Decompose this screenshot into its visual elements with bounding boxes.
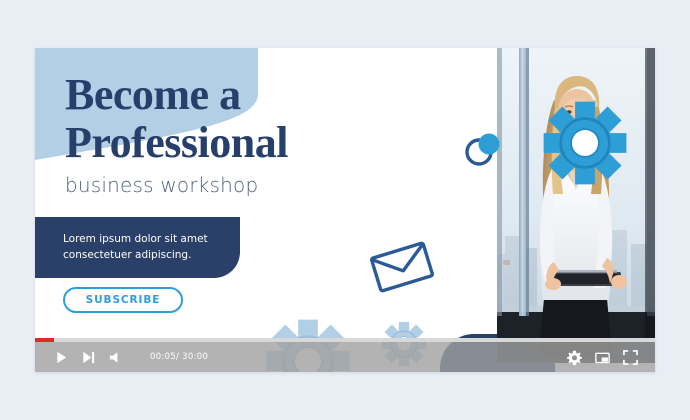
caption-line-2: consectetuer adipiscing. xyxy=(63,247,222,263)
caption-box: Lorem ipsum dolor sit amet consectetuer … xyxy=(35,217,240,278)
miniplayer-button[interactable] xyxy=(595,350,610,365)
controls-right-group xyxy=(567,350,655,365)
controls-bar: 00:05/ 30:00 xyxy=(35,342,655,372)
headline-block: Become a Professional business workshop xyxy=(65,74,495,197)
subscribe-button[interactable]: SUBSCRIBE xyxy=(63,287,183,313)
headline-line-1: Become a xyxy=(65,74,495,117)
settings-gear-icon[interactable] xyxy=(567,350,582,365)
businesswoman-photo xyxy=(497,48,655,363)
video-thumbnail-card: Become a Professional business workshop … xyxy=(35,48,655,372)
envelope-icon xyxy=(368,241,436,293)
next-track-button[interactable] xyxy=(81,350,96,365)
fullscreen-button[interactable] xyxy=(623,350,638,365)
play-button[interactable] xyxy=(54,350,69,365)
caption-line-1: Lorem ipsum dolor sit amet xyxy=(63,231,222,247)
controls-left-group: 00:05/ 30:00 xyxy=(35,350,208,365)
player-controls: 00:05/ 30:00 xyxy=(35,338,655,372)
time-display: 00:05/ 30:00 xyxy=(150,352,208,362)
headline-subtitle: business workshop xyxy=(65,173,495,197)
volume-button[interactable] xyxy=(108,350,123,365)
headline-line-2: Professional xyxy=(65,122,495,165)
